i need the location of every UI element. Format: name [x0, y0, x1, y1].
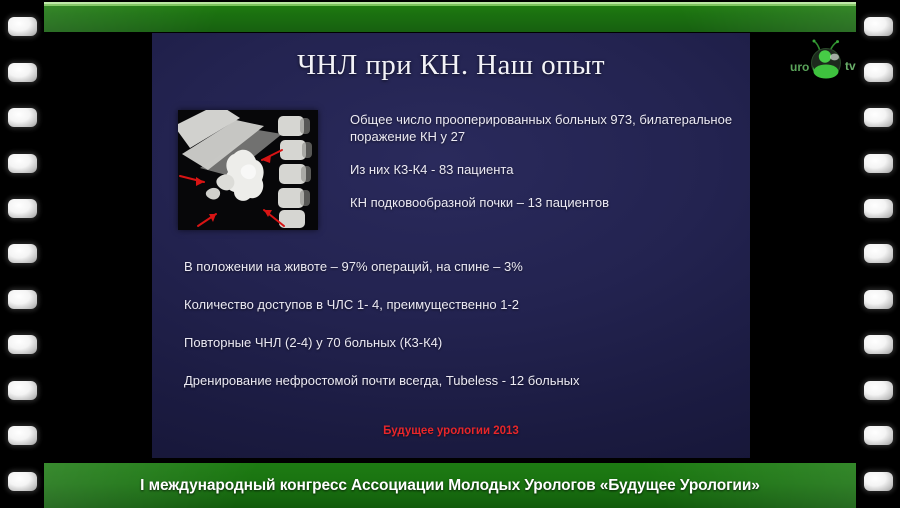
slide-footnote: Будущее урологии 2013 — [152, 425, 750, 437]
text-paragraph: КН подковообразной почки – 13 пациентов — [350, 194, 735, 211]
sprocket-hole — [8, 63, 37, 82]
text-paragraph: В положении на животе – 97% операций, на… — [184, 258, 729, 275]
sprocket-hole — [864, 381, 893, 400]
sprocket-hole — [8, 472, 37, 491]
sprocket-hole — [8, 108, 37, 127]
text-paragraph: Количество доступов в ЧЛС 1- 4, преимуще… — [184, 296, 729, 313]
sprocket-hole — [864, 199, 893, 218]
banner-title: I международный конгресс Ассоциации Моло… — [140, 477, 760, 495]
sprocket-hole — [8, 335, 37, 354]
text-paragraph: Общее число прооперированных больных 973… — [350, 111, 735, 145]
upper-text-block: Общее число прооперированных больных 973… — [350, 111, 735, 211]
sprocket-hole — [864, 472, 893, 491]
sprocket-hole — [8, 199, 37, 218]
top-green-bar — [44, 2, 856, 32]
sprocket-hole — [8, 290, 37, 309]
sprocket-hole — [8, 426, 37, 445]
logo-text-uro: uro — [790, 60, 809, 74]
lower-text-block: В положении на животе – 97% операций, на… — [184, 258, 729, 389]
sprocket-hole — [864, 335, 893, 354]
sprocket-hole — [864, 17, 893, 36]
text-paragraph: Дренирование нефростомой почти всегда, T… — [184, 372, 729, 389]
ct-scan-thumbnail — [178, 110, 318, 230]
logo-text-tv: tv — [845, 59, 856, 73]
sprocket-hole — [8, 381, 37, 400]
sprocket-hole — [864, 290, 893, 309]
text-paragraph: Из них К3-К4 - 83 пациента — [350, 161, 735, 178]
sprocket-hole — [8, 17, 37, 36]
bottom-green-banner: I международный конгресс Ассоциации Моло… — [44, 463, 856, 508]
sprocket-hole — [864, 244, 893, 263]
sprocket-hole — [864, 108, 893, 127]
presentation-slide: ЧНЛ при КН. Наш опыт — [152, 33, 750, 458]
text-paragraph: Повторные ЧНЛ (2-4) у 70 больных (К3-К4) — [184, 334, 729, 351]
sprocket-hole — [864, 426, 893, 445]
film-sprockets-left — [0, 0, 44, 508]
sprocket-hole — [864, 154, 893, 173]
sprocket-hole — [8, 244, 37, 263]
film-strip-frame: uro tv ЧНЛ при КН. Наш опыт — [0, 0, 900, 508]
sprocket-hole — [8, 154, 37, 173]
sprocket-hole — [864, 63, 893, 82]
slide-title: ЧНЛ при КН. Наш опыт — [152, 49, 750, 82]
urotv-logo: uro tv — [788, 38, 864, 84]
